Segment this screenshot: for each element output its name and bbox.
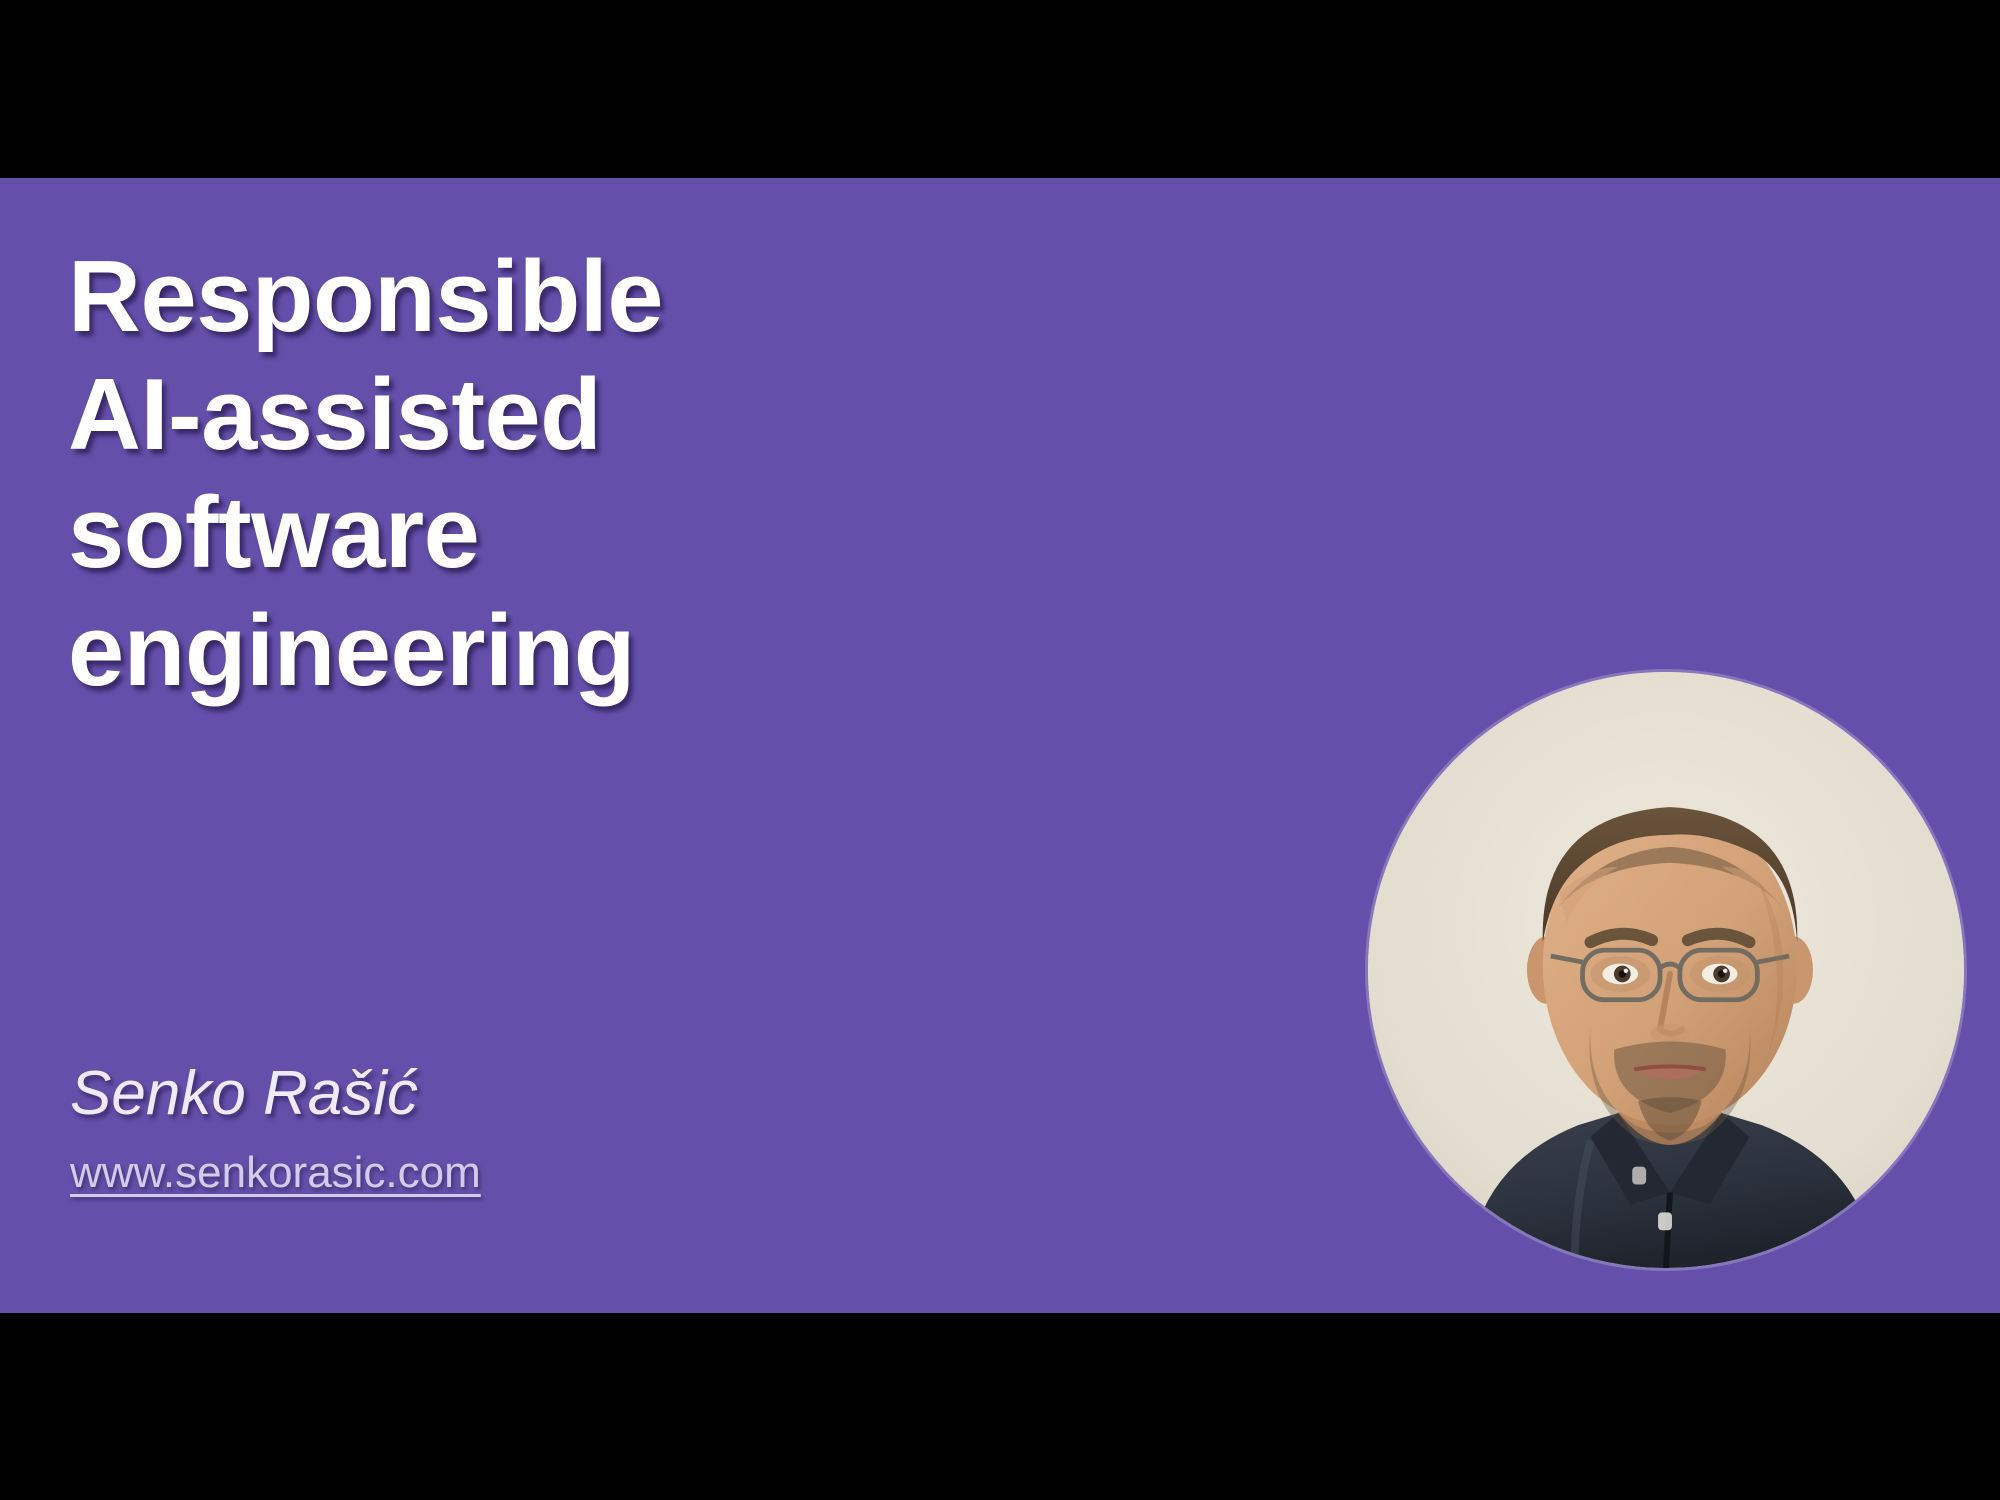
portrait-photo-illustration — [1368, 672, 1964, 1268]
presenter-website-link[interactable]: www.senkorasic.com — [70, 1146, 481, 1200]
presenter-credit: Senko Rašić www.senkorasic.com — [70, 1058, 870, 1200]
letterbox-bar-top — [0, 0, 2000, 178]
title-slide: Responsible AI-assisted software enginee… — [0, 178, 2000, 1313]
presenter-name: Senko Rašić — [70, 1058, 870, 1130]
avatar — [1368, 672, 1964, 1268]
letterbox-bar-bottom — [0, 1313, 2000, 1500]
video-frame: Responsible AI-assisted software enginee… — [0, 0, 2000, 1500]
page-title: Responsible AI-assisted software enginee… — [68, 238, 1068, 710]
